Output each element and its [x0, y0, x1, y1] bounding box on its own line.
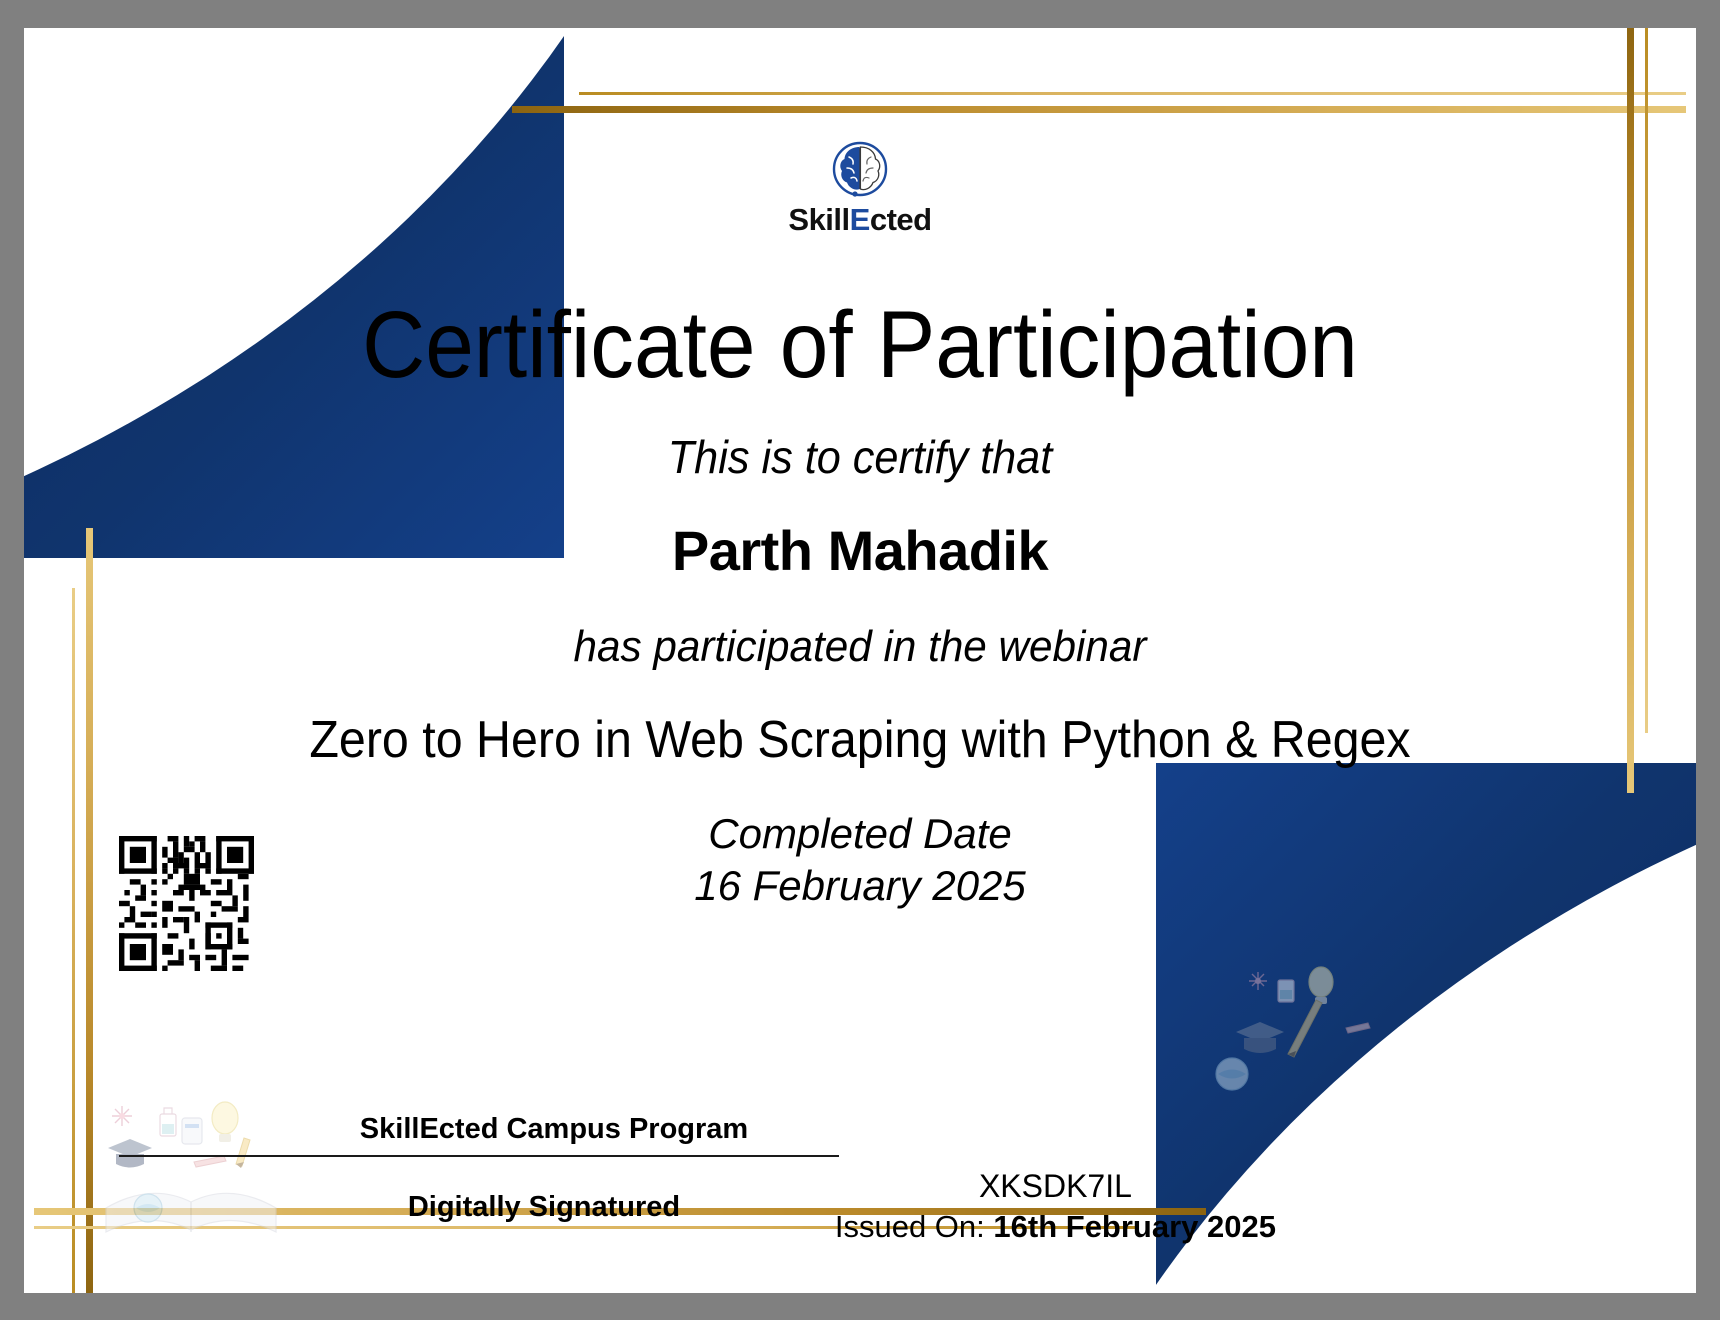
- issued-on-line: Issued On: 16th February 2025: [835, 1209, 1276, 1245]
- wordmark-accent: E: [850, 202, 870, 237]
- brand-wordmark: SkillEcted: [788, 204, 931, 235]
- education-illustration-right-icon: [1196, 958, 1396, 1108]
- wordmark-part2: cted: [870, 202, 932, 237]
- qr-code[interactable]: [119, 836, 254, 971]
- issuance-block: XKSDK7IL Issued On: 16th February 2025: [835, 1168, 1276, 1245]
- signature-organization: SkillEcted Campus Program: [119, 1113, 839, 1146]
- completed-date-label: Completed Date: [24, 810, 1696, 858]
- signature-caption: Digitally Signatured: [119, 1191, 839, 1224]
- wordmark-part1: Skill: [788, 202, 849, 237]
- certificate-canvas: SkillEcted Certificate of Participation …: [24, 28, 1696, 1293]
- signature-rule: [119, 1155, 839, 1157]
- brain-icon: [831, 140, 889, 202]
- course-title: Zero to Hero in Web Scraping with Python…: [83, 710, 1638, 770]
- participation-statement: has participated in the webinar: [57, 622, 1662, 672]
- certify-statement: This is to certify that: [74, 430, 1646, 484]
- issued-on-label: Issued On:: [835, 1209, 985, 1244]
- brand-logo: SkillEcted: [24, 140, 1696, 235]
- issued-on-date: 16th February 2025: [993, 1209, 1276, 1244]
- certificate-id: XKSDK7IL: [835, 1168, 1276, 1205]
- signature-block: SkillEcted Campus Program Digitally Sign…: [119, 1113, 839, 1224]
- certificate-page: SkillEcted Certificate of Participation …: [0, 0, 1720, 1320]
- recipient-name: Parth Mahadik: [24, 518, 1696, 583]
- certificate-title: Certificate of Participation: [91, 298, 1629, 393]
- completed-date-value: 16 February 2025: [24, 862, 1696, 910]
